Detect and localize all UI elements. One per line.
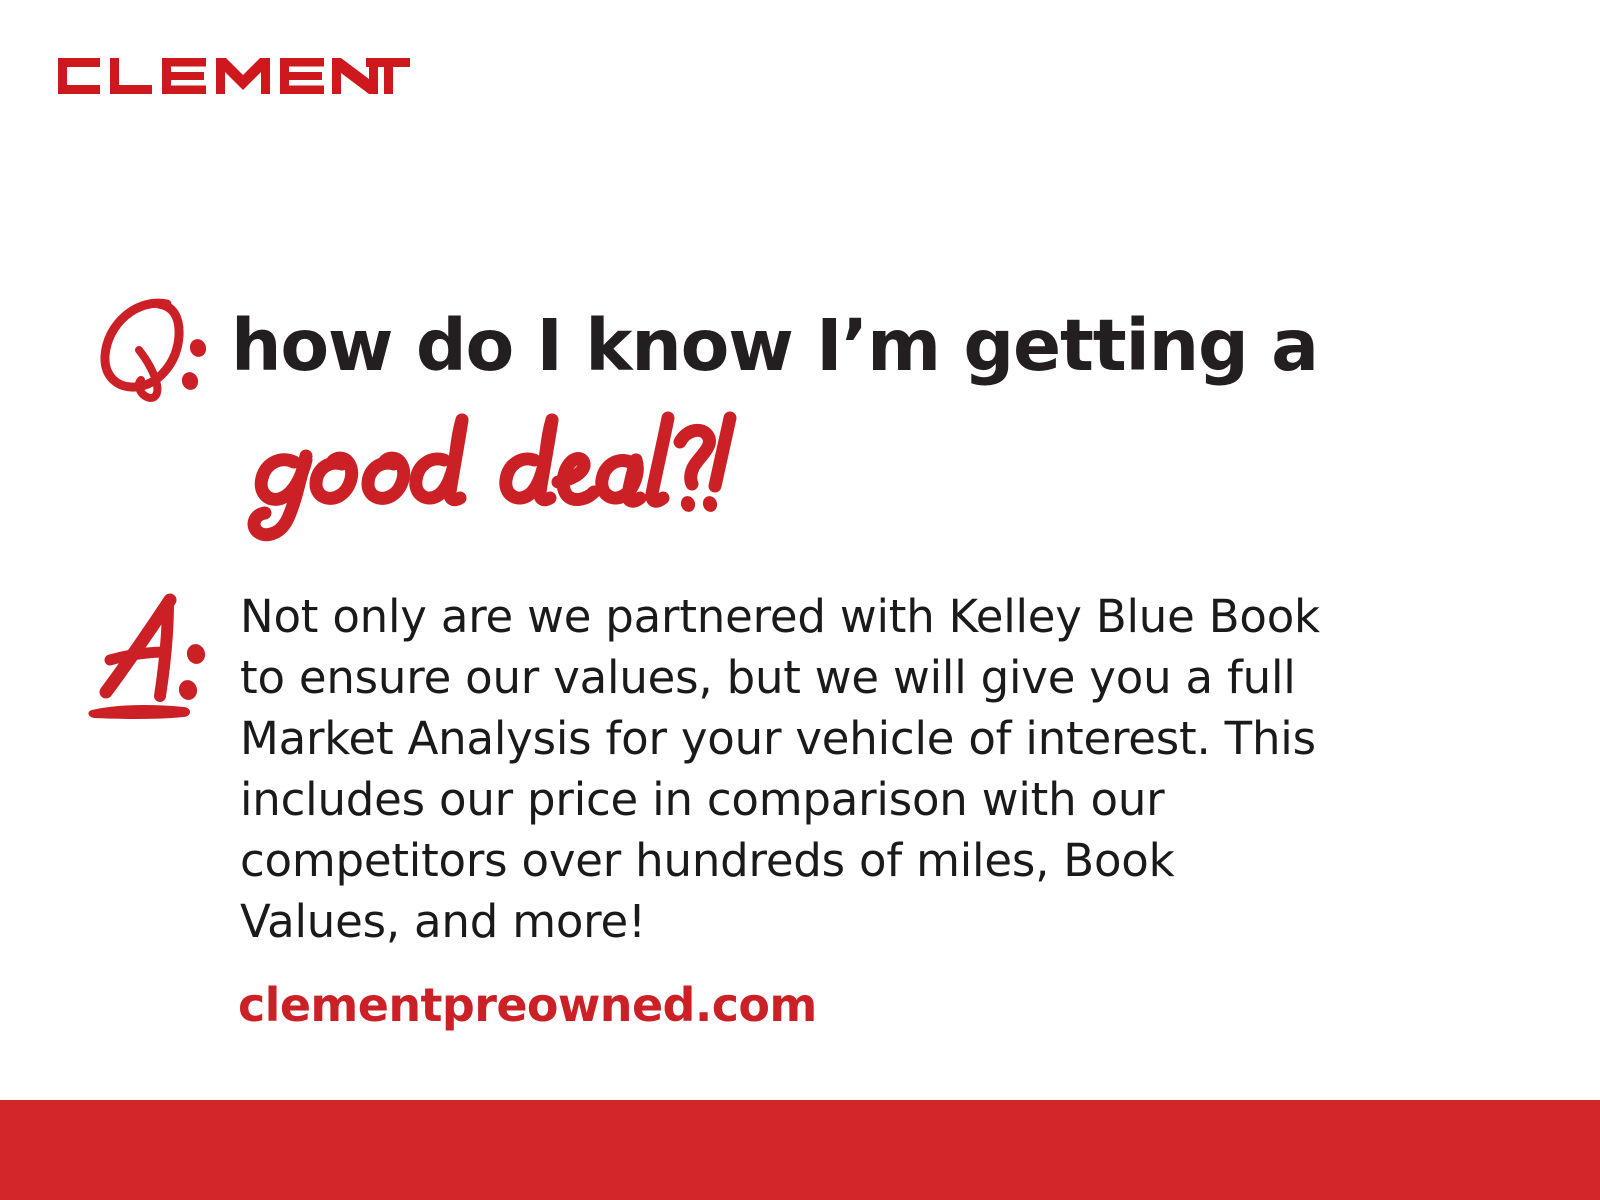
- question-text: how do I know I’m getting a: [231, 310, 1318, 381]
- question-marker-icon: [95, 288, 213, 406]
- answer-text: Not only are we partnered with Kelley Bl…: [240, 586, 1530, 952]
- answer-line: Values, and more!: [240, 891, 1530, 952]
- answer-line: includes our price in comparison with ou…: [240, 769, 1530, 830]
- answer-line: Not only are we partnered with Kelley Bl…: [240, 586, 1530, 647]
- answer-line: competitors over hundreds of miles, Book: [240, 830, 1530, 891]
- answer-line: Market Analysis for your vehicle of inte…: [240, 708, 1530, 769]
- clement-logo: [58, 50, 410, 102]
- website-url[interactable]: clementpreowned.com: [238, 978, 817, 1032]
- question-script-text: [238, 404, 738, 544]
- footer-bar: [0, 1100, 1600, 1200]
- answer-line: to ensure our values, but we will give y…: [240, 647, 1530, 708]
- answer-marker-icon: [88, 592, 220, 722]
- question-line-one: how do I know I’m getting a: [95, 288, 1318, 406]
